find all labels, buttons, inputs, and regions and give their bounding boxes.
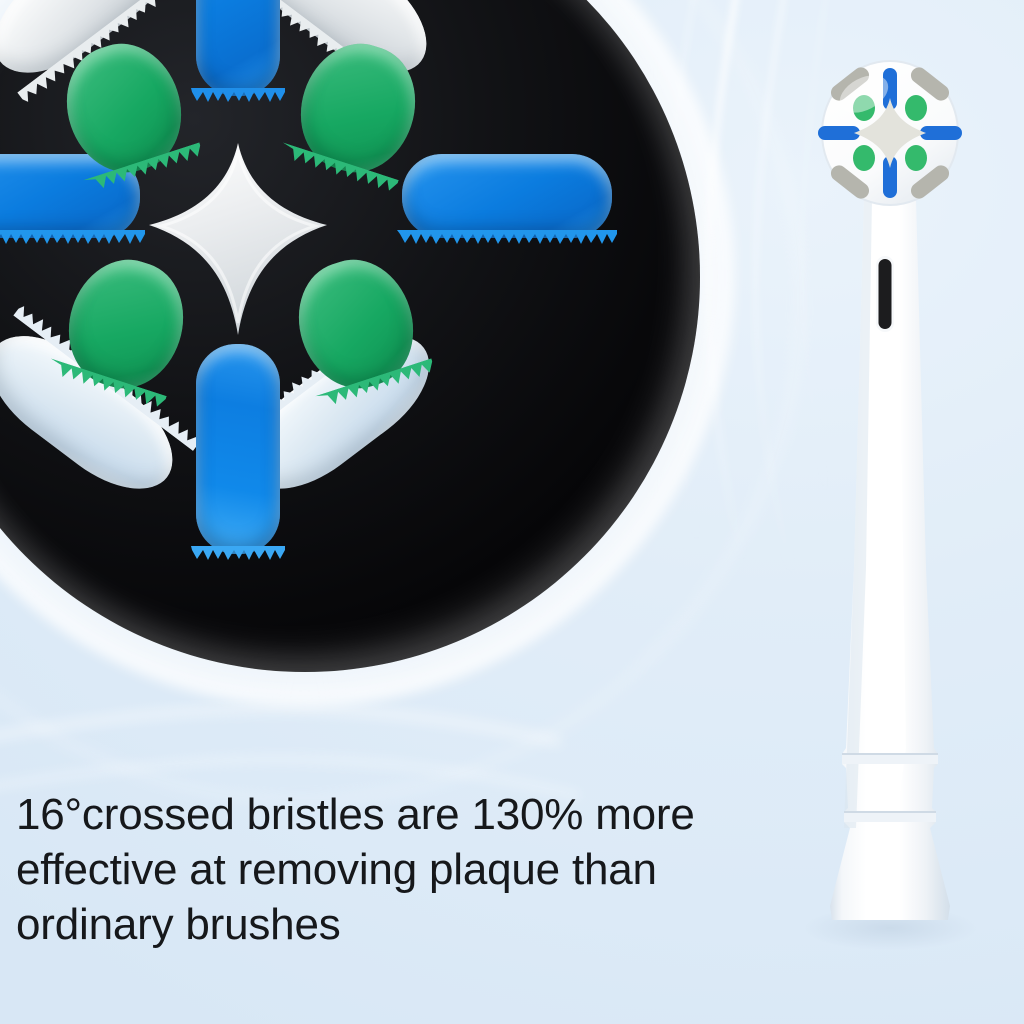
caption-line-3: ordinary brushes <box>16 897 816 952</box>
neck-slot-icon <box>879 259 892 329</box>
caption-line-2: effective at removing plaque than <box>16 842 816 897</box>
head-blue-tuft-left <box>818 126 860 140</box>
brush-head-macro-closeup <box>0 0 700 672</box>
collar-ring-upper <box>842 754 938 764</box>
caption-line-1: 16°crossed bristles are 130% more <box>16 787 816 842</box>
head-green-tuft-bottom-right <box>905 145 927 171</box>
head-green-tuft-top-right <box>905 95 927 121</box>
head-green-tuft-bottom-left <box>853 145 875 171</box>
brush-head-bristle-field <box>818 64 962 202</box>
head-blue-tuft-right <box>920 126 962 140</box>
product-image-canvas: 16°crossed bristles are 130% more effect… <box>0 0 1024 1024</box>
feature-claim-text: 16°crossed bristles are 130% more effect… <box>16 787 816 952</box>
collar-ring-lower <box>844 812 936 822</box>
